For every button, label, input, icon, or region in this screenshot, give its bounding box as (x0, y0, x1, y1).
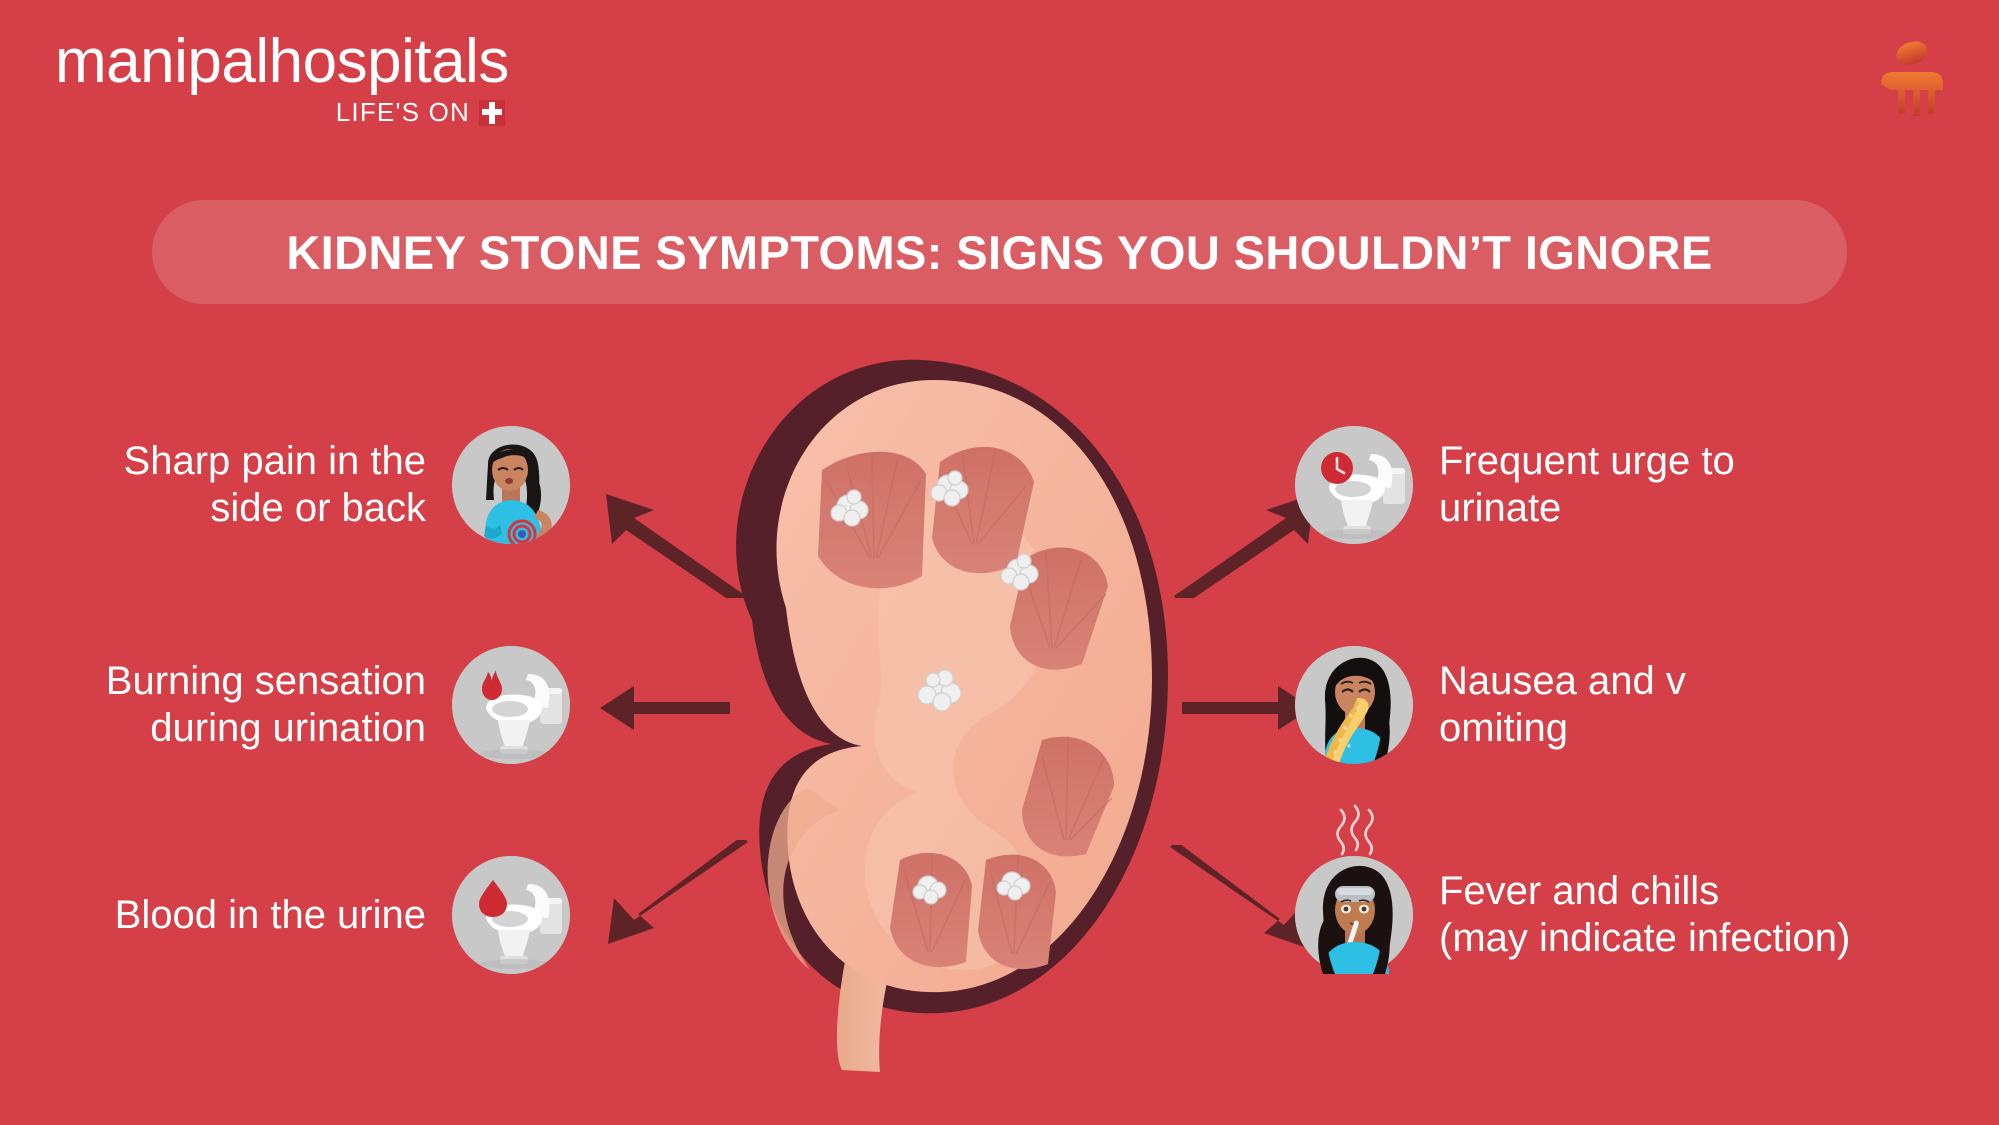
medical-cross-icon (479, 100, 505, 126)
woman-fever-thermometer-icon (1295, 856, 1413, 974)
arrow-down-left-icon (590, 840, 750, 950)
manipal-figure-mark-icon (1867, 38, 1957, 118)
symptom-label: Nausea and v omiting (1413, 658, 1686, 752)
symptom-label: Sharp pain in the side or back (124, 438, 452, 532)
toilet-clock-icon (1295, 426, 1413, 544)
brand-logo: manipalhospitals LIFE'S ON (55, 30, 575, 128)
arrow-left-icon (600, 680, 730, 736)
brand-tagline: LIFE'S ON (336, 97, 470, 128)
symptom-label: Burning sensation during urination (106, 658, 452, 752)
woman-nausea-icon (1295, 646, 1413, 764)
toilet-flame-icon (452, 646, 570, 764)
brand-wordmark: manipalhospitals (55, 30, 575, 93)
symptom-sharp-pain[interactable]: Sharp pain in the side or back (60, 425, 570, 545)
arrow-up-left-icon (588, 488, 748, 598)
symptom-nausea-vomiting[interactable]: Nausea and v omiting (1295, 645, 1935, 765)
symptom-label: Fever and chills (may indicate infection… (1413, 868, 1850, 962)
symptom-frequent-urge[interactable]: Frequent urge to urinate (1295, 425, 1935, 545)
symptom-blood-in-urine[interactable]: Blood in the urine (60, 855, 570, 975)
page-title: KIDNEY STONE SYMPTOMS: SIGNS YOU SHOULDN… (286, 225, 1712, 280)
symptom-label: Frequent urge to urinate (1413, 438, 1735, 532)
kidney-cross-section-illustration (690, 358, 1190, 1073)
woman-back-pain-icon (452, 426, 570, 544)
symptom-fever-chills[interactable]: Fever and chills (may indicate infection… (1295, 855, 1995, 975)
symptom-label: Blood in the urine (115, 892, 452, 939)
arrow-right-icon (1182, 680, 1312, 736)
symptom-burning-urination[interactable]: Burning sensation during urination (60, 645, 570, 765)
heat-waves-icon (1338, 806, 1373, 854)
brand-tagline-row: LIFE'S ON (55, 97, 505, 128)
infographic-canvas: manipalhospitals LIFE'S ON KIDNEY STONE … (0, 0, 1999, 1125)
page-title-banner: KIDNEY STONE SYMPTOMS: SIGNS YOU SHOULDN… (152, 200, 1847, 304)
toilet-blood-drop-icon (452, 856, 570, 974)
